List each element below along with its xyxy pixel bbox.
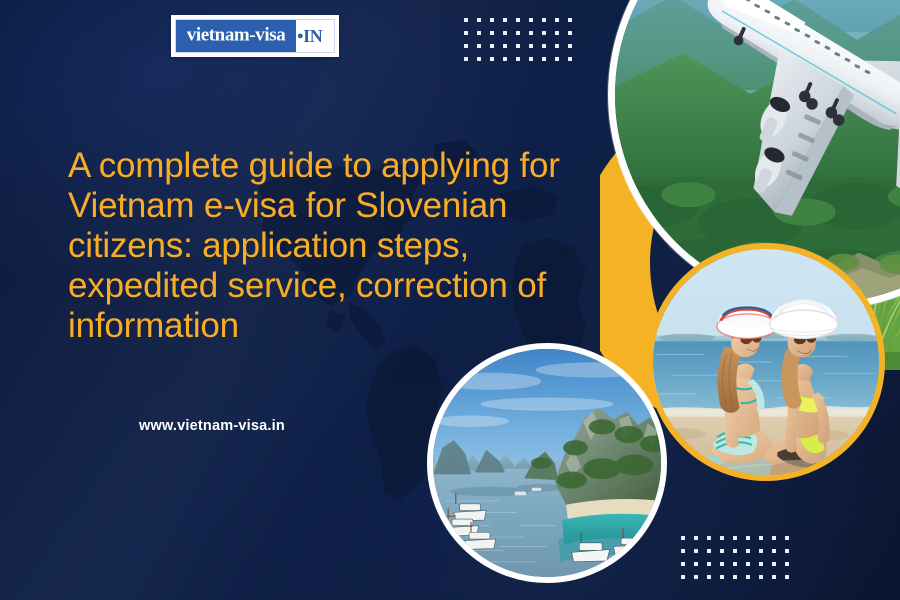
dot (746, 562, 750, 566)
site-url-text: www.vietnam-visa.in (139, 418, 285, 434)
dot (785, 562, 789, 566)
dot (707, 536, 711, 540)
logo-primary-text: vietnam-visa (187, 25, 286, 47)
dot (681, 575, 685, 579)
dot (720, 549, 724, 553)
dot (785, 536, 789, 540)
dot (733, 536, 737, 540)
dot (785, 549, 789, 553)
dot (759, 536, 763, 540)
dot (694, 549, 698, 553)
dot (759, 549, 763, 553)
dot (746, 536, 750, 540)
dot (720, 575, 724, 579)
dot (707, 562, 711, 566)
dot (772, 549, 776, 553)
dot (772, 562, 776, 566)
dot (694, 536, 698, 540)
dot (746, 575, 750, 579)
dot (681, 536, 685, 540)
dot (785, 575, 789, 579)
dot (772, 575, 776, 579)
dot (707, 575, 711, 579)
dot (681, 562, 685, 566)
dot (733, 562, 737, 566)
dot (746, 549, 750, 553)
page-title: A complete guide to applying for Vietnam… (68, 146, 588, 346)
logo-frame: vietnam-visa •IN (175, 19, 335, 53)
dot (694, 575, 698, 579)
halong-bay-photo (427, 343, 667, 583)
dot (720, 562, 724, 566)
dot (681, 549, 685, 553)
evisa-guide-banner: vietnam-visa •IN A complete guide to app… (0, 0, 900, 600)
dot (733, 549, 737, 553)
site-logo[interactable]: vietnam-visa •IN (171, 15, 339, 57)
dot (707, 549, 711, 553)
dot-grid-bottom-right (681, 536, 789, 579)
dot (759, 562, 763, 566)
dot (720, 536, 724, 540)
dot (694, 562, 698, 566)
logo-blue-panel: vietnam-visa (176, 20, 296, 52)
dot (733, 575, 737, 579)
dot (772, 536, 776, 540)
dot (759, 575, 763, 579)
logo-white-panel: •IN (296, 20, 334, 52)
two-women-on-beach-photo (647, 243, 885, 481)
logo-suffix-text: •IN (297, 26, 322, 47)
